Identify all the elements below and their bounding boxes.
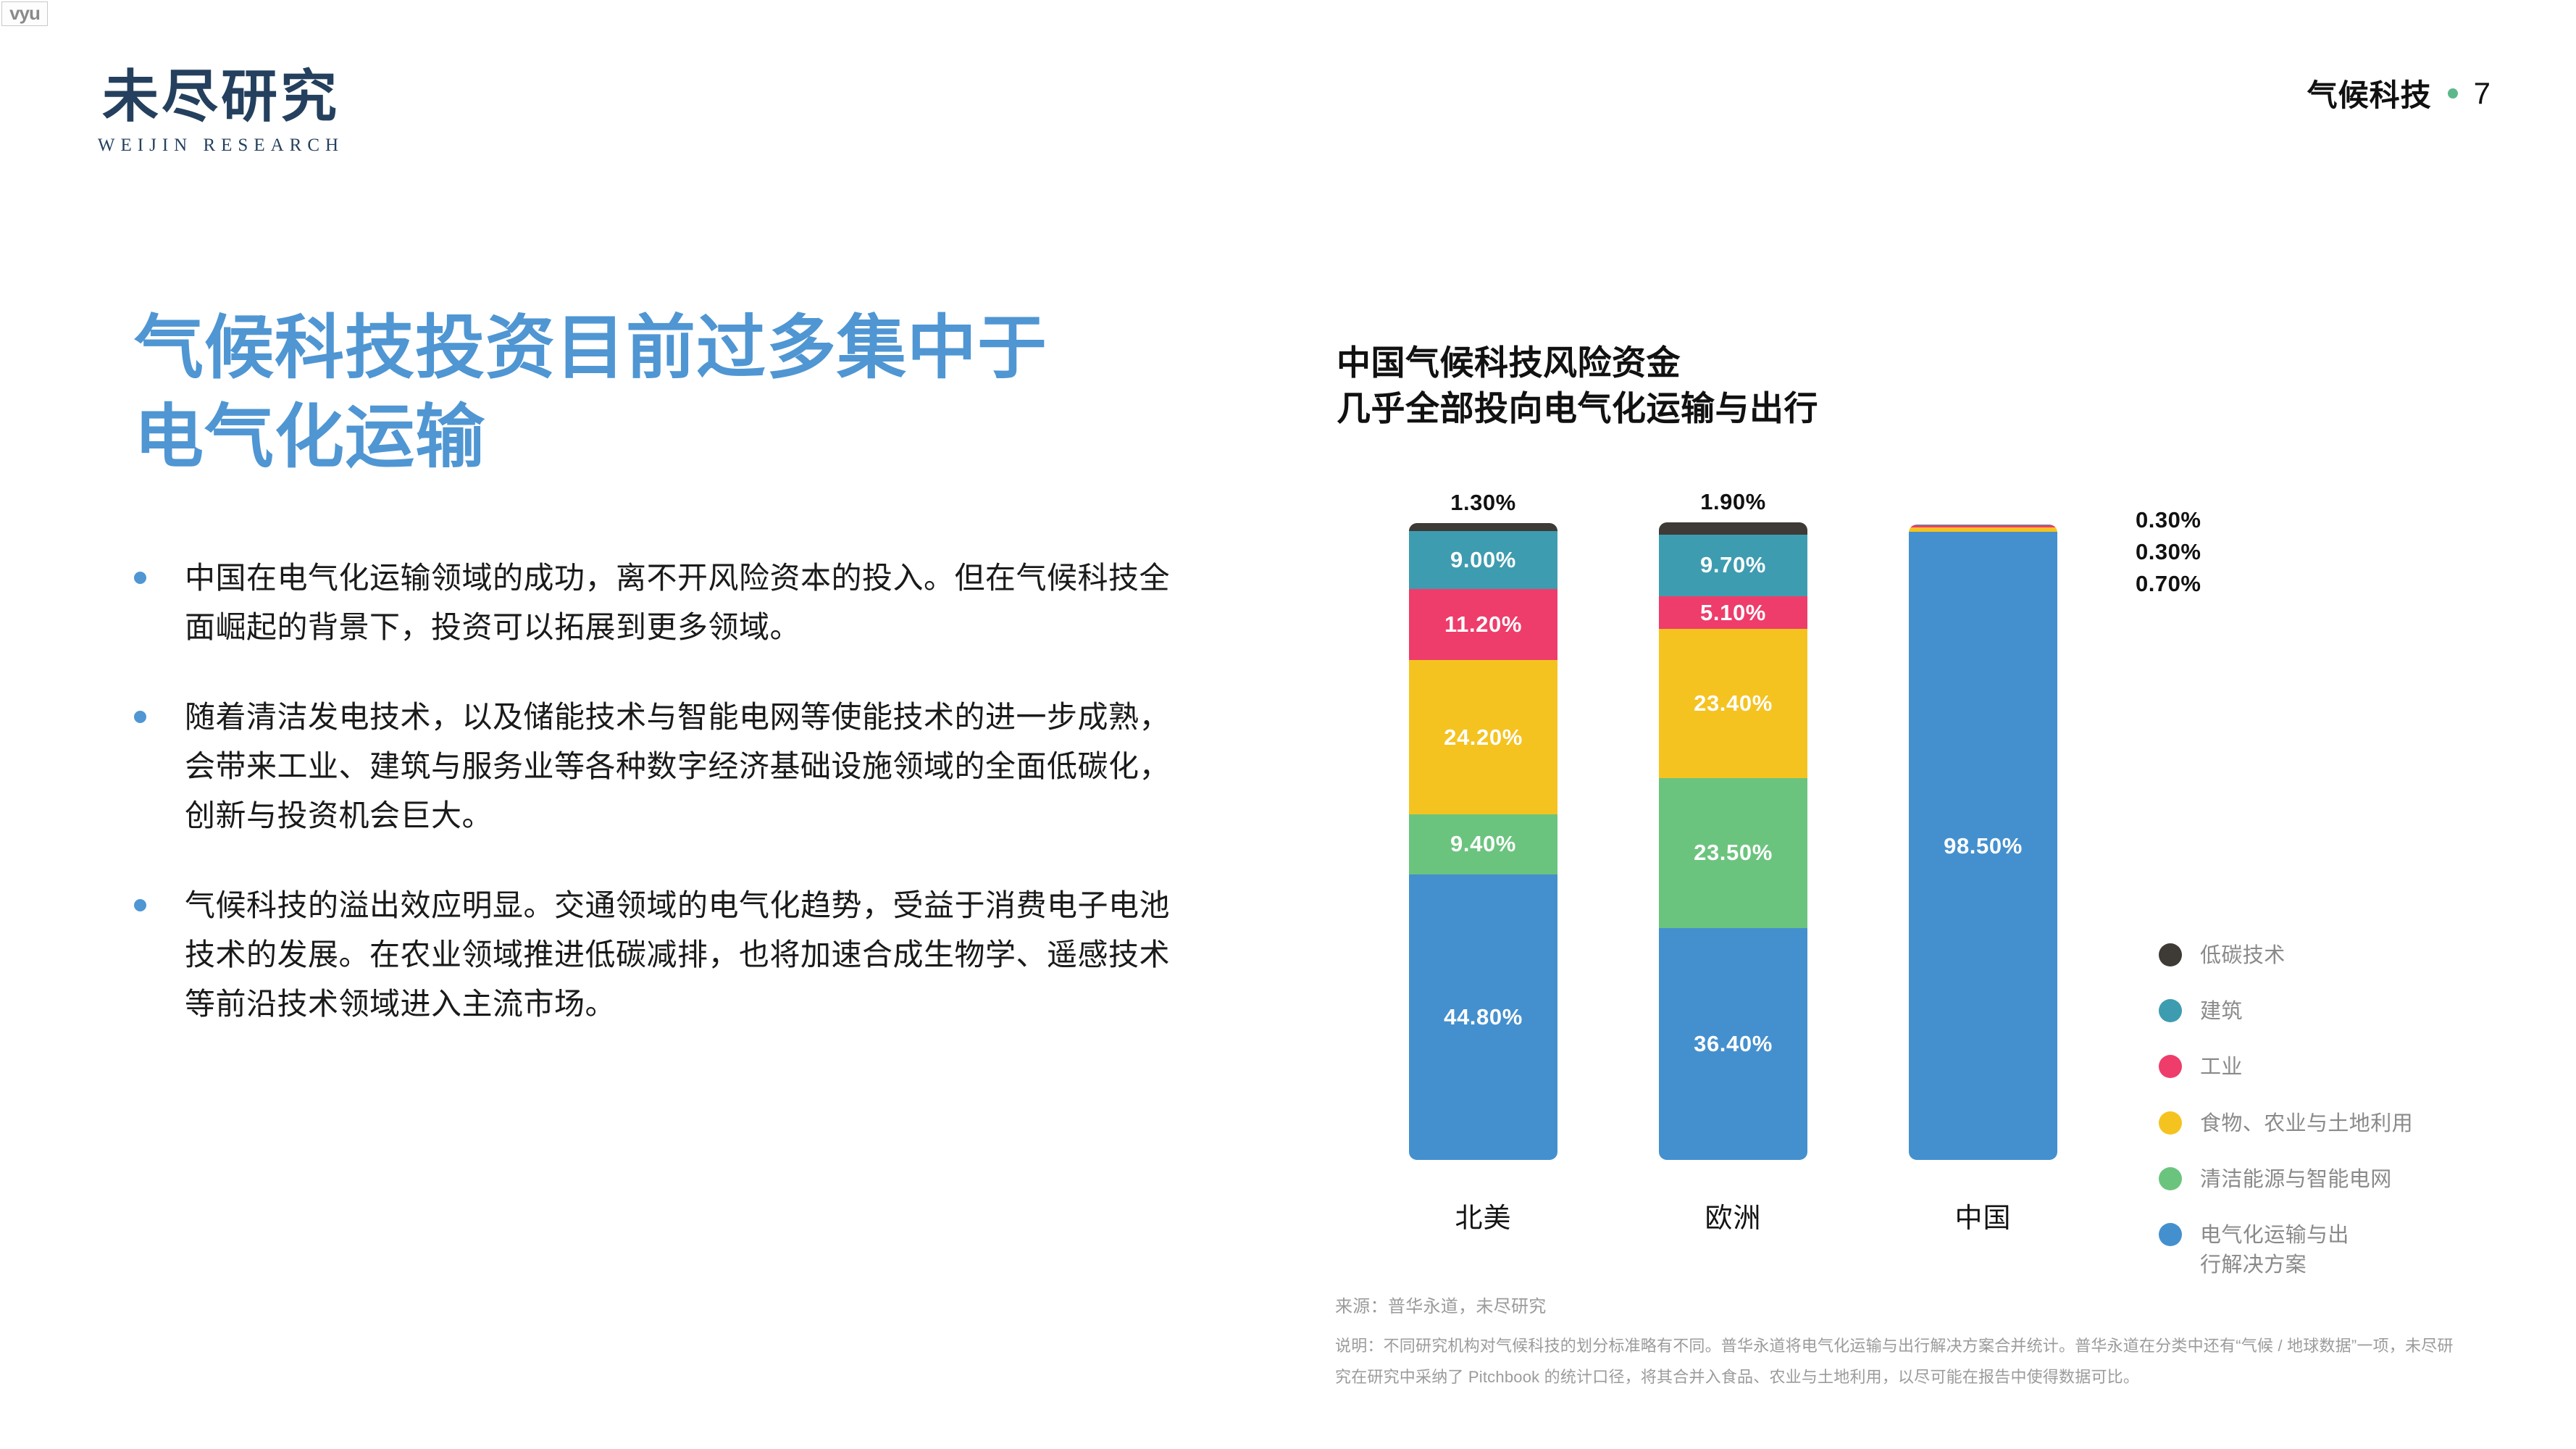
left-content-column: 气候科技投资目前过多集中于电气化运输 中国在电气化运输领域的成功，离不开风险资本… (134, 304, 1221, 1069)
header-right: 气候科技 7 (2307, 71, 2491, 115)
bar-segment[interactable]: 98.50% (1909, 532, 2057, 1160)
bar-segment-label: 9.70% (1700, 552, 1766, 578)
bar-segment[interactable] (1659, 522, 1807, 535)
page-title: 气候科技投资目前过多集中于电气化运输 (134, 304, 1221, 483)
legend-label: 食物、农业与土地利用 (2200, 1109, 2413, 1139)
bar-segment[interactable]: 23.50% (1659, 778, 1807, 928)
note-line: 说明：不同研究机构对气候科技的划分标准略有不同。普华永道将电气化运输与出行解决方… (1335, 1331, 2465, 1393)
bullet-list: 中国在电气化运输领域的成功，离不开风险资本的投入。但在气候科技全面崛起的背景下，… (134, 554, 1221, 1029)
bullet-item: 随着清洁发电技术，以及储能技术与智能电网等使能技术的进一步成熟，会带来工业、建筑… (134, 693, 1221, 840)
bar-segment-label: 9.40% (1450, 831, 1516, 857)
legend-swatch-icon (2159, 1055, 2182, 1078)
bar-segment-label: 36.40% (1694, 1031, 1773, 1057)
stacked-bar-chart: 9.00%11.20%24.20%9.40%44.80%1.30%北美9.70%… (1337, 477, 2525, 1274)
watermark-tag: vyu (1, 1, 48, 26)
stacked-bar[interactable]: 9.70%5.10%23.40%23.50%36.40% (1659, 522, 1807, 1160)
legend-item[interactable]: 清洁能源与智能电网 (2159, 1165, 2499, 1195)
bar-segment[interactable]: 5.10% (1659, 596, 1807, 629)
legend-item[interactable]: 低碳技术 (2159, 941, 2499, 971)
header-section-title: 气候科技 (2307, 71, 2432, 115)
bar-top-label: 1.90% (1659, 489, 1807, 515)
bar-segment-label: 44.80% (1444, 1004, 1523, 1030)
bar-segment[interactable]: 23.40% (1659, 629, 1807, 778)
bullet-text: 随着清洁发电技术，以及储能技术与智能电网等使能技术的进一步成熟，会带来工业、建筑… (185, 693, 1192, 840)
bar-segment-label: 23.50% (1694, 840, 1773, 866)
chart-panel: 中国气候科技风险资金几乎全部投向电气化运输与出行 9.00%11.20%24.2… (1337, 341, 2525, 1274)
bar-category-label: 中国 (1909, 1195, 2057, 1235)
legend-swatch-icon (2159, 1111, 2182, 1135)
bullet-dot-icon (134, 572, 146, 584)
logo-chinese-name: 未尽研究 (69, 69, 373, 125)
bar-side-label: 0.30% (2136, 539, 2201, 565)
bar-segment[interactable]: 11.20% (1409, 589, 1557, 661)
legend-label: 清洁能源与智能电网 (2200, 1165, 2392, 1195)
bar-group[interactable]: 9.00%11.20%24.20%9.40%44.80%1.30%北美 (1409, 523, 1557, 1160)
bar-segment-label: 5.10% (1700, 600, 1766, 626)
green-dot-icon (2448, 88, 2458, 99)
bar-segment-label: 98.50% (1944, 833, 2023, 859)
legend-item[interactable]: 建筑 (2159, 997, 2499, 1027)
legend-swatch-icon (2159, 999, 2182, 1022)
bar-segment[interactable]: 36.40% (1659, 928, 1807, 1160)
chart-title-line: 中国气候科技风险资金 (1337, 341, 2525, 386)
bar-top-label: 1.30% (1409, 490, 1557, 516)
bar-segment[interactable]: 9.40% (1409, 814, 1557, 874)
bar-segment-label: 24.20% (1444, 724, 1523, 751)
brand-logo: 未尽研究 WEIJIN RESEARCH (69, 69, 373, 156)
bullet-item: 中国在电气化运输领域的成功，离不开风险资本的投入。但在气候科技全面崛起的背景下，… (134, 554, 1221, 652)
page-number: 7 (2474, 76, 2491, 111)
bar-segment-label: 9.00% (1450, 547, 1516, 573)
chart-title: 中国气候科技风险资金几乎全部投向电气化运输与出行 (1337, 341, 2525, 431)
bar-group[interactable]: 98.50%0.30%0.30%0.70%中国 (1909, 525, 2057, 1160)
bullet-dot-icon (134, 711, 146, 723)
legend-swatch-icon (2159, 943, 2182, 966)
bar-category-label: 欧洲 (1659, 1195, 1807, 1235)
legend-label: 低碳技术 (2200, 941, 2286, 971)
page-title-line: 电气化运输 (134, 393, 1221, 483)
legend-item[interactable]: 工业 (2159, 1053, 2499, 1082)
bar-segment-label: 11.20% (1444, 611, 1522, 638)
bar-segment[interactable]: 44.80% (1409, 874, 1557, 1160)
bar-segment[interactable]: 9.70% (1659, 535, 1807, 596)
stacked-bar[interactable]: 9.00%11.20%24.20%9.40%44.80% (1409, 523, 1557, 1160)
bar-group[interactable]: 9.70%5.10%23.40%23.50%36.40%1.90%欧洲 (1659, 522, 1807, 1160)
legend-swatch-icon (2159, 1167, 2182, 1190)
bar-segment[interactable]: 9.00% (1409, 531, 1557, 588)
bullet-text: 中国在电气化运输领域的成功，离不开风险资本的投入。但在气候科技全面崛起的背景下，… (185, 554, 1192, 652)
bar-segment-label: 23.40% (1694, 690, 1773, 717)
bullet-item: 气候科技的溢出效应明显。交通领域的电气化趋势，受益于消费电子电池技术的发展。在农… (134, 881, 1221, 1029)
legend-label: 建筑 (2200, 997, 2243, 1027)
chart-legend: 低碳技术建筑工业食物、农业与土地利用清洁能源与智能电网电气化运输与出 行解决方案 (2159, 941, 2499, 1306)
legend-label: 工业 (2200, 1053, 2243, 1082)
source-line: 来源：普华永道，未尽研究 (1335, 1293, 2465, 1321)
chart-title-line: 几乎全部投向电气化运输与出行 (1337, 386, 2525, 432)
bar-segment[interactable]: 24.20% (1409, 660, 1557, 814)
bar-segment[interactable] (1409, 523, 1557, 531)
bar-side-label: 0.30% (2136, 507, 2201, 533)
bar-side-label: 0.70% (2136, 571, 2201, 597)
legend-swatch-icon (2159, 1223, 2182, 1246)
bar-category-label: 北美 (1409, 1195, 1557, 1235)
stacked-bar[interactable]: 98.50% (1909, 525, 2057, 1160)
legend-label: 电气化运输与出 行解决方案 (2200, 1221, 2349, 1280)
bullet-text: 气候科技的溢出效应明显。交通领域的电气化趋势，受益于消费电子电池技术的发展。在农… (185, 881, 1192, 1029)
bullet-dot-icon (134, 899, 146, 911)
page-title-line: 气候科技投资目前过多集中于 (134, 304, 1221, 393)
legend-item[interactable]: 食物、农业与土地利用 (2159, 1109, 2499, 1139)
source-note: 来源：普华永道，未尽研究 说明：不同研究机构对气候科技的划分标准略有不同。普华永… (1335, 1293, 2465, 1393)
legend-item[interactable]: 电气化运输与出 行解决方案 (2159, 1221, 2499, 1280)
logo-english-name: WEIJIN RESEARCH (69, 135, 373, 156)
